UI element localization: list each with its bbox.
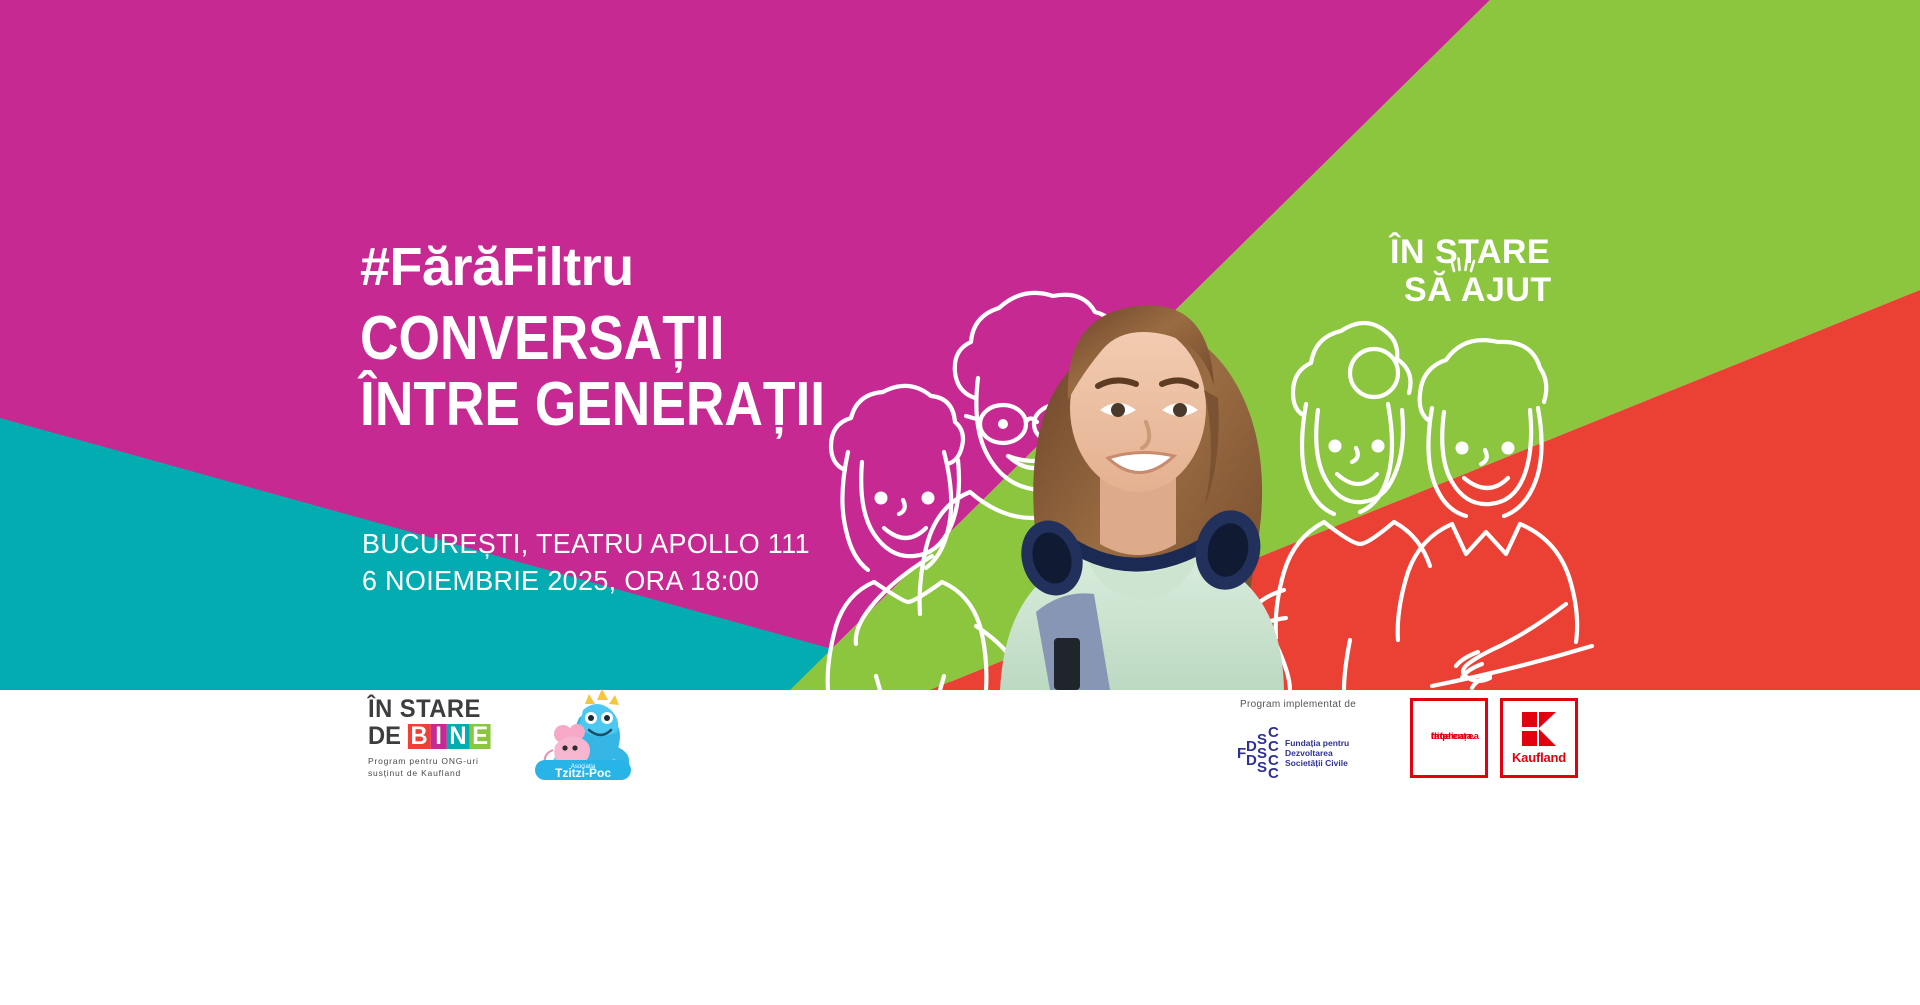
isdb-tagline-2: susținut de Kaufland — [368, 767, 508, 779]
fdsc-letter-f: F — [1237, 745, 1246, 762]
isdb-de: DE — [368, 722, 401, 750]
fdsc-letter-c4: C — [1268, 765, 1279, 778]
isdb-letter-i: I — [430, 724, 446, 749]
poster-canvas: #FărăFiltru CONVERSAȚII ÎNTRE GENERAȚII … — [0, 0, 1920, 1005]
claim-line-2: SĂ AJUT — [1404, 271, 1552, 309]
kaufland-k-icon — [1522, 712, 1556, 746]
event-details: BUCUREȘTI, TEATRU APOLLO 111 6 NOIEMBRIE… — [362, 525, 962, 599]
isdb-letter-b: B — [408, 724, 431, 749]
tzitzi-poc-name: Tzitzi-Poc — [555, 766, 611, 780]
footer-logo-band — [0, 690, 1920, 1005]
headline-block: #FărăFiltru CONVERSAȚII ÎNTRE GENERAȚII — [360, 240, 920, 437]
isdb-tagline-1: Program pentru ONG-uri — [368, 755, 508, 767]
fdsc-logo: F D S C D S C S C C Fundația pentru Dezv… — [1237, 718, 1387, 778]
isdb-letter-e: E — [469, 724, 491, 749]
isdb-line-1: ÎN STARE — [368, 697, 501, 722]
event-venue: BUCUREȘTI, TEATRU APOLLO 111 — [362, 525, 938, 562]
sparkle-icon — [1450, 257, 1476, 275]
kaufland-wordmark: Kaufland — [1503, 750, 1575, 765]
claim-line-2-wrap: SĂ AJUT — [1390, 271, 1552, 309]
fdsc-name-2: Dezvoltarea — [1285, 748, 1333, 758]
campaign-claim: ÎN STARE SĂ AJUT — [1390, 233, 1552, 309]
involvement-logo: Implicarea face diferența. — [1410, 698, 1488, 778]
fdsc-name-1: Fundația pentru — [1285, 738, 1349, 748]
fdsc-name-3: Societății Civile — [1285, 758, 1348, 768]
hashtag: #FărăFiltru — [360, 240, 920, 294]
involvement-line-3: diferența. — [1431, 729, 1475, 745]
in-stare-de-bine-logo: ÎN STARE DE BINE Program pentru ONG-uri … — [368, 697, 508, 779]
fdsc-letter-d2: D — [1246, 752, 1257, 769]
student-photo-svg — [940, 240, 1340, 690]
title-line-1: CONVERSAȚII — [360, 306, 842, 372]
title-line-2: ÎNTRE GENERAȚII — [360, 372, 842, 438]
kaufland-logo: Kaufland — [1500, 698, 1578, 778]
isdb-letter-n: N — [447, 724, 470, 749]
isdb-line-2: DE BINE — [368, 724, 501, 749]
fdsc-letter-s3: S — [1257, 759, 1267, 776]
tzitzi-poc-logo: Asociația Tzitzi-Poc — [527, 688, 637, 783]
student-photo — [940, 240, 1340, 690]
event-datetime: 6 NOIEMBRIE 2025, ORA 18:00 — [362, 562, 938, 599]
implemented-by-label: Program implementat de — [1240, 699, 1356, 710]
